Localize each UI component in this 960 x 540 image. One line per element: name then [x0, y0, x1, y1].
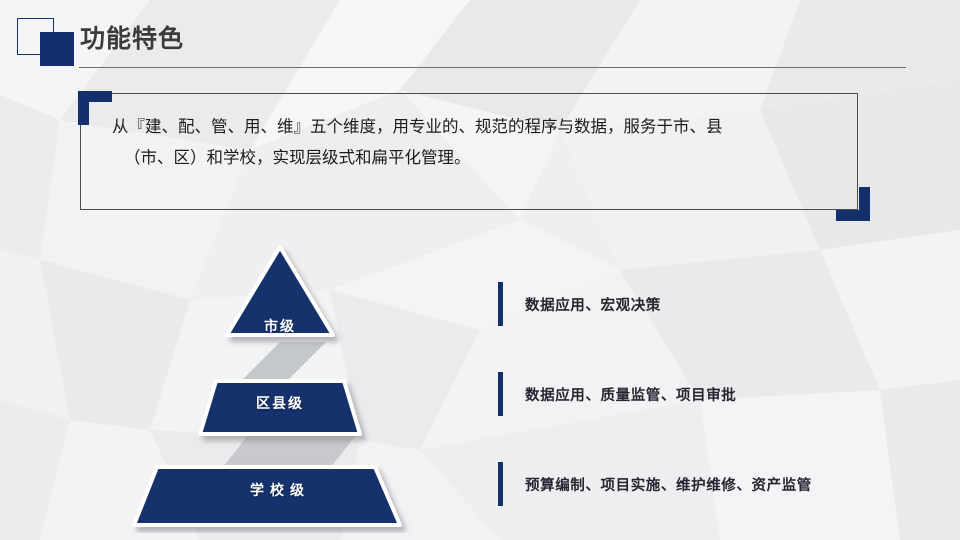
pyramid-label-bottom: 学校级 — [130, 480, 430, 500]
header-divider — [79, 67, 906, 68]
description-text: 从『建、配、管、用、维』五个维度，用专业的、规范的程序与数据，服务于市、县 （市… — [112, 112, 832, 174]
caption-row-top: 数据应用、宏观决策 — [498, 281, 661, 327]
caption-text: 数据应用、宏观决策 — [525, 294, 661, 315]
caption-text: 数据应用、质量监管、项目审批 — [525, 384, 736, 405]
corner-accent-bottom-right — [836, 187, 870, 221]
corner-accent-vertical — [859, 187, 870, 221]
caption-accent-bar — [498, 282, 503, 326]
description-line-1: 从『建、配、管、用、维』五个维度，用专业的、规范的程序与数据，服务于市、县 — [112, 118, 723, 136]
corner-accent-top-left — [78, 91, 112, 125]
caption-row-bottom: 预算编制、项目实施、维护维修、资产监管 — [498, 461, 812, 507]
page-title: 功能特色 — [80, 22, 184, 56]
slide-canvas: 功能特色 从『建、配、管、用、维』五个维度，用专业的、规范的程序与数据，服务于市… — [0, 0, 960, 540]
caption-accent-bar — [498, 462, 503, 506]
caption-accent-bar — [498, 372, 503, 416]
caption-text: 预算编制、项目实施、维护维修、资产监管 — [525, 474, 812, 495]
solid-square-icon — [40, 32, 74, 66]
pyramid-label-middle: 区县级 — [130, 393, 430, 413]
header-logo — [17, 18, 79, 66]
description-line-2: （市、区）和学校，实现层级式和扁平化管理。 — [112, 143, 832, 174]
pyramid-diagram: 市级 区县级 学校级 — [130, 238, 430, 533]
corner-accent-vertical — [78, 91, 89, 125]
caption-row-middle: 数据应用、质量监管、项目审批 — [498, 371, 736, 417]
pyramid-label-top: 市级 — [130, 316, 430, 336]
